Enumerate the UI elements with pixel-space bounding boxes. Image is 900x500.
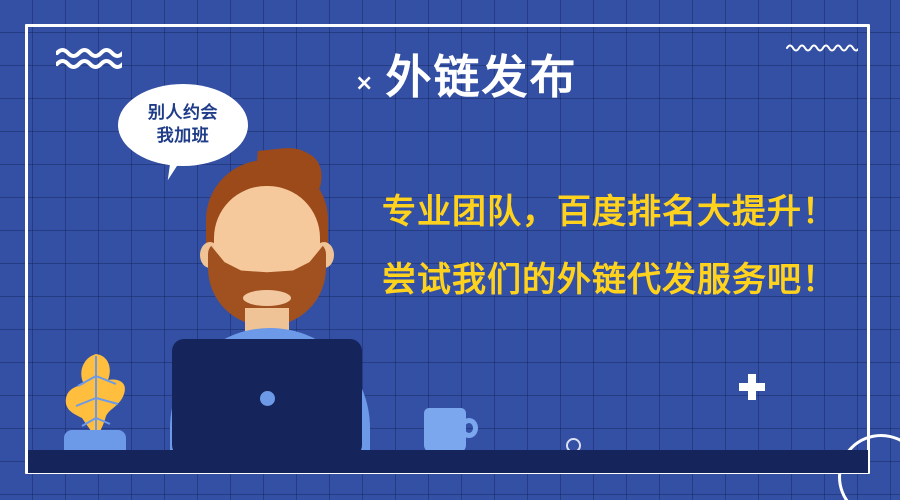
speech-bubble-line-2: 我加班 (157, 125, 210, 148)
plus-icon (739, 374, 765, 400)
laptop (172, 339, 362, 457)
page-title: × 外链发布 (355, 52, 577, 103)
tagline-group: 专业团队，百度排名大提升！ 尝试我们的外链代发服务吧！ (382, 178, 837, 314)
laptop-logo-dot-icon (260, 391, 275, 406)
x-mark-icon: × (355, 73, 373, 95)
wave-line-thin-icon (786, 42, 858, 54)
speech-bubble-line-1: 别人约会 (148, 102, 218, 125)
title-text: 外链发布 (385, 52, 577, 103)
mouth (243, 290, 291, 306)
mug-cup (424, 408, 466, 453)
plant (58, 350, 134, 460)
promo-banner: × 外链发布 专业团队，百度排名大提升！ 尝试我们的外链代发服务吧！ 别人约会 … (0, 0, 900, 500)
desk-surface (28, 450, 868, 473)
wave-lines-icon (56, 46, 122, 70)
coffee-mug (424, 408, 480, 453)
tagline-line-1: 专业团队，百度排名大提升！ (382, 178, 837, 246)
tagline-line-2: 尝试我们的外链代发服务吧！ (382, 246, 837, 314)
